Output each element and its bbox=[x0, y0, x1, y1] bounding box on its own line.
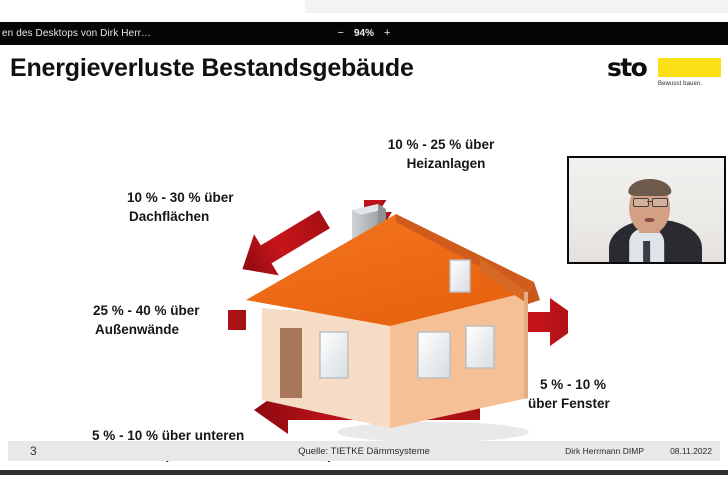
screenshare-titlebar: en des Desktops von Dirk Herr… − 94% + bbox=[0, 22, 728, 45]
logo-yellow-bar bbox=[658, 58, 721, 77]
annotation-heating-line1: 10 % - 25 % über bbox=[388, 137, 495, 152]
screen-root: en des Desktops von Dirk Herr… − 94% + E… bbox=[0, 0, 728, 486]
presenter-hair bbox=[628, 179, 671, 197]
zoom-in-button[interactable]: + bbox=[384, 28, 390, 39]
annotation-windows: 5 % - 10 % über Fenster bbox=[528, 375, 648, 413]
presenter-video-tile[interactable] bbox=[567, 156, 726, 264]
house-window-left bbox=[320, 332, 348, 378]
top-panel-strip-lower bbox=[305, 13, 728, 21]
annotation-walls-line2: Außenwände bbox=[93, 320, 263, 339]
house-window-attic bbox=[450, 260, 470, 292]
zoom-out-button[interactable]: − bbox=[338, 28, 344, 39]
annotation-heating-line2: Heizanlagen bbox=[371, 154, 511, 173]
presentation-slide: Energieverluste Bestandsgebäude sto Bewu… bbox=[0, 45, 728, 470]
house-window-front-1 bbox=[418, 332, 450, 378]
house-door bbox=[280, 328, 302, 398]
sto-logo: sto Bewusst bauen. bbox=[607, 55, 721, 95]
presenter-glasses-right bbox=[652, 198, 668, 207]
presenter-tie bbox=[643, 241, 651, 262]
annotation-windows-line1: 5 % - 10 % bbox=[528, 377, 606, 392]
annotation-roof: 10 % - 30 % über Dachflächen bbox=[127, 188, 302, 226]
slide-date-label: 08.11.2022 bbox=[670, 446, 712, 456]
presenter-mouth bbox=[644, 218, 655, 222]
house-window-front-2 bbox=[466, 326, 494, 368]
bottom-divider-bar bbox=[0, 470, 728, 475]
presenter-glasses-bridge bbox=[647, 201, 653, 202]
annotation-roof-line2: Dachflächen bbox=[127, 207, 302, 226]
page-title: Energieverluste Bestandsgebäude bbox=[10, 54, 414, 83]
screenshare-title-label: en des Desktops von Dirk Herr… bbox=[2, 28, 151, 39]
annotation-windows-line2: über Fenster bbox=[528, 394, 648, 413]
logo-claim: Bewusst bauen. bbox=[658, 81, 702, 87]
annotation-heating: 10 % - 25 % über Heizanlagen bbox=[371, 135, 511, 173]
house-heat-loss-diagram bbox=[228, 200, 568, 450]
presenter-glasses-left bbox=[633, 198, 649, 207]
presenter-video-frame bbox=[569, 158, 724, 262]
annotation-walls-line1: 25 % - 40 % über bbox=[93, 303, 200, 318]
annotation-walls: 25 % - 40 % über Außenwände bbox=[93, 301, 263, 339]
logo-wordmark: sto bbox=[607, 55, 646, 80]
zoom-level-label: 94% bbox=[354, 28, 374, 39]
top-panel-strip bbox=[305, 0, 728, 14]
slide-author-label: Dirk Herrmann DIMP bbox=[565, 446, 644, 456]
annotation-roof-line1: 10 % - 30 % über bbox=[127, 190, 234, 205]
slide-footer: 3 Quelle: TIETKE Dämmsysteme Dirk Herrma… bbox=[8, 441, 720, 461]
